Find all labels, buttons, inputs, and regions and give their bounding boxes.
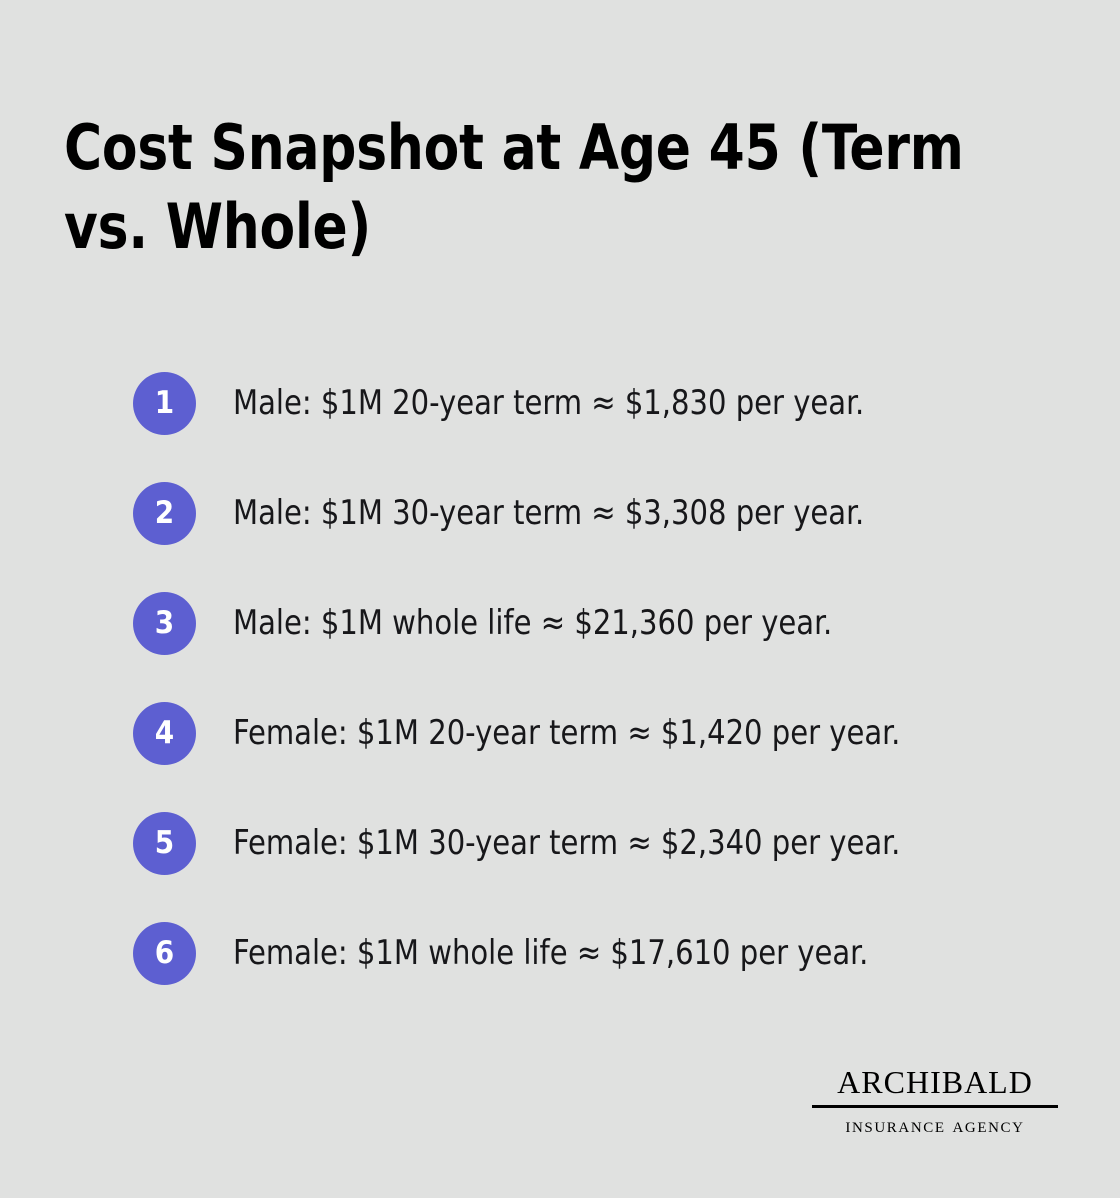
list-number-badge: 3 <box>133 592 196 655</box>
list-item-text: Female: $1M 20-year term ≈ $1,420 per ye… <box>233 713 1022 754</box>
list-number-badge: 2 <box>133 482 196 545</box>
logo-tagline: Insurance Agency <box>812 1115 1058 1136</box>
list-item-text: Female: $1M whole life ≈ $17,610 per yea… <box>233 933 1022 974</box>
list-item: 3 Male: $1M whole life ≈ $21,360 per yea… <box>133 592 1063 655</box>
list-number-badge: 4 <box>133 702 196 765</box>
list-item: 1 Male: $1M 20-year term ≈ $1,830 per ye… <box>133 372 1063 435</box>
list-item-text: Male: $1M 30-year term ≈ $3,308 per year… <box>233 493 1022 534</box>
list-item: 2 Male: $1M 30-year term ≈ $3,308 per ye… <box>133 482 1063 545</box>
poster-canvas: Cost Snapshot at Age 45 (Term vs. Whole)… <box>0 0 1120 1198</box>
list-number-badge: 1 <box>133 372 196 435</box>
list-item-text: Male: $1M 20-year term ≈ $1,830 per year… <box>233 383 1022 424</box>
list-item: 6 Female: $1M whole life ≈ $17,610 per y… <box>133 922 1063 985</box>
list-item-text: Male: $1M whole life ≈ $21,360 per year. <box>233 603 1022 644</box>
logo-divider-rule <box>812 1105 1058 1108</box>
list-number-badge: 6 <box>133 922 196 985</box>
list-item: 5 Female: $1M 30-year term ≈ $2,340 per … <box>133 812 1063 875</box>
list-item-text: Female: $1M 30-year term ≈ $2,340 per ye… <box>233 823 1022 864</box>
brand-logo: Archibald Insurance Agency <box>812 1055 1058 1136</box>
numbered-list: 1 Male: $1M 20-year term ≈ $1,830 per ye… <box>133 372 1063 985</box>
title-block: Cost Snapshot at Age 45 (Term vs. Whole) <box>64 108 1039 267</box>
list-item: 4 Female: $1M 20-year term ≈ $1,420 per … <box>133 702 1063 765</box>
list-number-badge: 5 <box>133 812 196 875</box>
logo-wordmark: Archibald <box>812 1055 1058 1101</box>
page-title: Cost Snapshot at Age 45 (Term vs. Whole) <box>64 108 971 267</box>
